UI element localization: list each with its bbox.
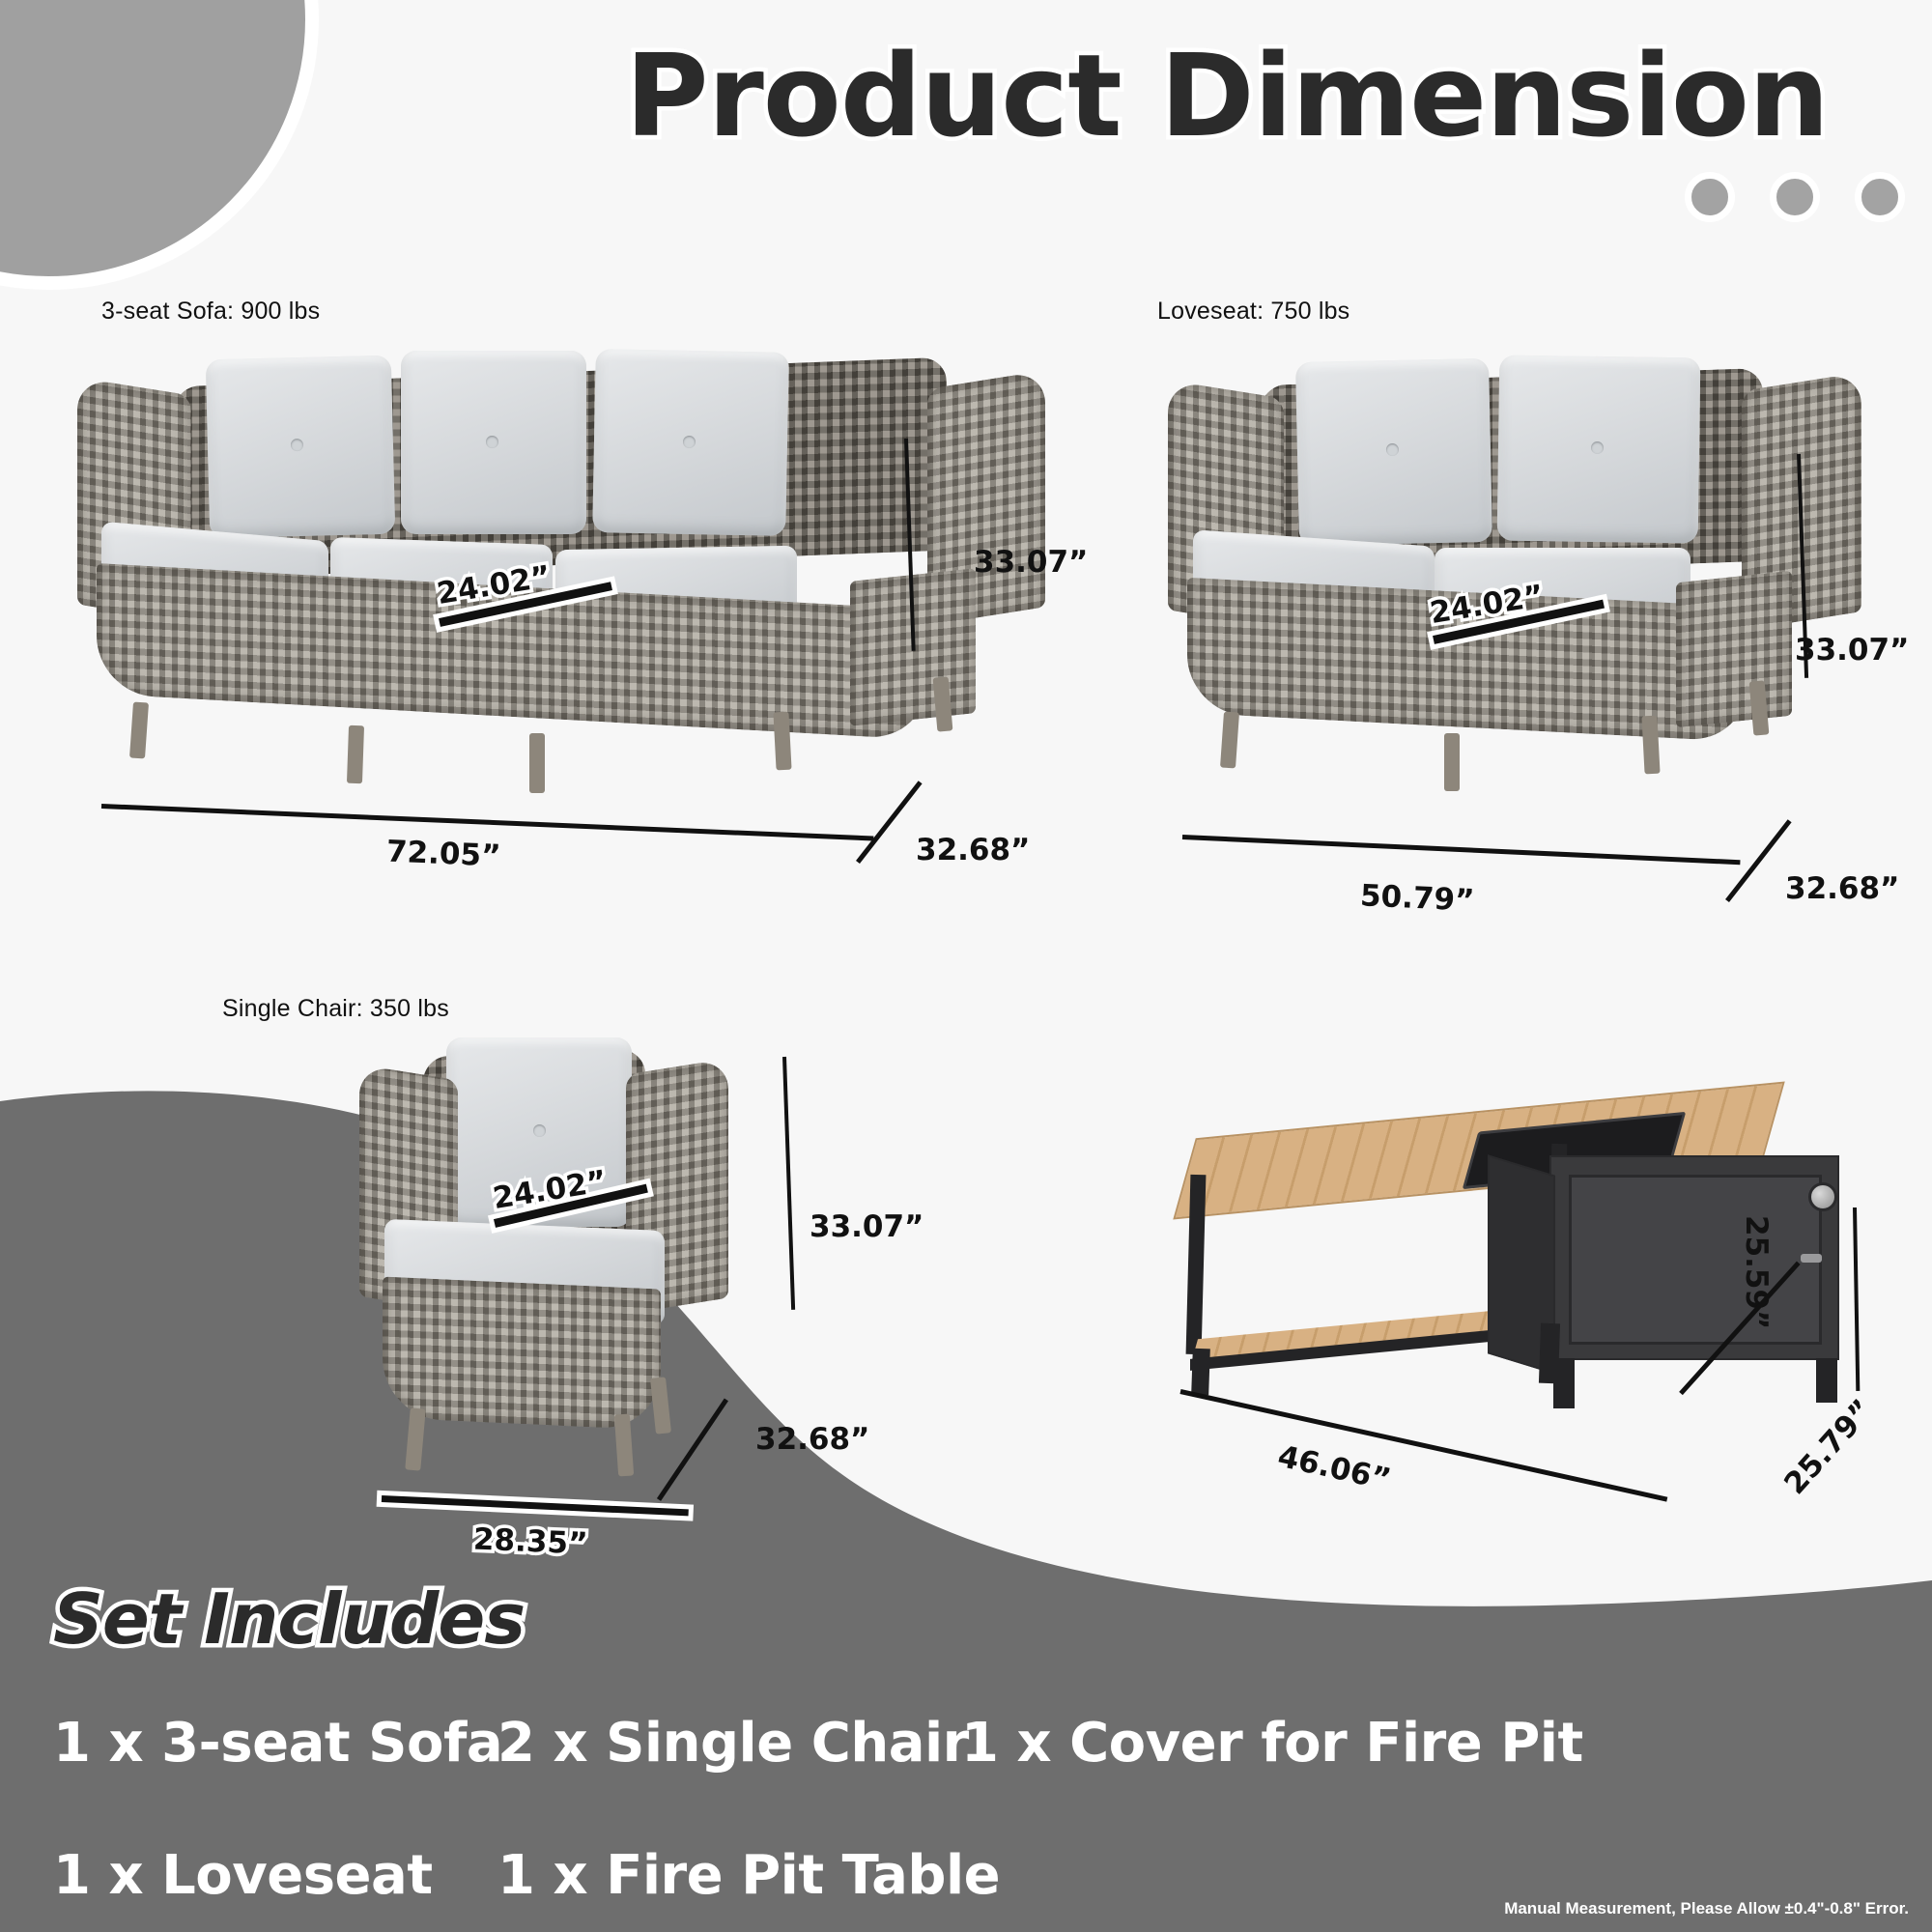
- chair-height-line: [782, 1057, 795, 1310]
- loveseat-height-label: 33.07”: [1795, 633, 1909, 668]
- page-title: Product Dimension: [541, 29, 1913, 162]
- chair-depth-label: 32.68”: [755, 1422, 869, 1457]
- loveseat-width-line: [1182, 835, 1741, 865]
- illustration-single-chair: [357, 1024, 763, 1526]
- set-includes-list: 1 x 3-seat Sofa 2 x Single Chair 1 x Cov…: [53, 1712, 1831, 1907]
- measurement-disclaimer: Manual Measurement, Please Allow ±0.4"-0…: [1504, 1899, 1909, 1918]
- corner-decoration-circle: [0, 0, 319, 290]
- loveseat-width-label: 50.79”: [1359, 878, 1475, 918]
- chair-height-label: 33.07”: [810, 1209, 923, 1244]
- set-includes-title: Set Includes: [53, 1578, 525, 1660]
- set-item-1: 1 x 3-seat Sofa: [53, 1712, 497, 1775]
- fire-pit-control-knob: [1808, 1182, 1837, 1211]
- loveseat-depth-label: 32.68”: [1785, 871, 1899, 906]
- set-item-6: [961, 1844, 1579, 1907]
- label-loveseat: Loveseat: 750 lbs: [1157, 298, 1350, 326]
- chair-width-label: 28.35”: [472, 1522, 588, 1562]
- sofa-depth-label: 32.68”: [916, 833, 1030, 867]
- sofa-width-label: 72.05”: [385, 835, 501, 874]
- label-single-chair: Single Chair: 350 lbs: [222, 995, 449, 1023]
- pager-dots: [1685, 172, 1905, 222]
- pager-dot-3: [1855, 172, 1905, 222]
- sofa-height-label: 33.07”: [974, 545, 1088, 580]
- set-item-4: 1 x Loveseat: [53, 1844, 497, 1907]
- set-item-5: 1 x Fire Pit Table: [497, 1844, 961, 1907]
- set-item-3: 1 x Cover for Fire Pit: [961, 1712, 1579, 1775]
- set-item-2: 2 x Single Chair: [497, 1712, 961, 1775]
- pager-dot-2: [1770, 172, 1820, 222]
- infographic-page: Product Dimension 3-seat Sofa: 900 lbs: [0, 0, 1932, 1932]
- pager-dot-1: [1685, 172, 1735, 222]
- label-three-seat-sofa: 3-seat Sofa: 900 lbs: [101, 298, 320, 326]
